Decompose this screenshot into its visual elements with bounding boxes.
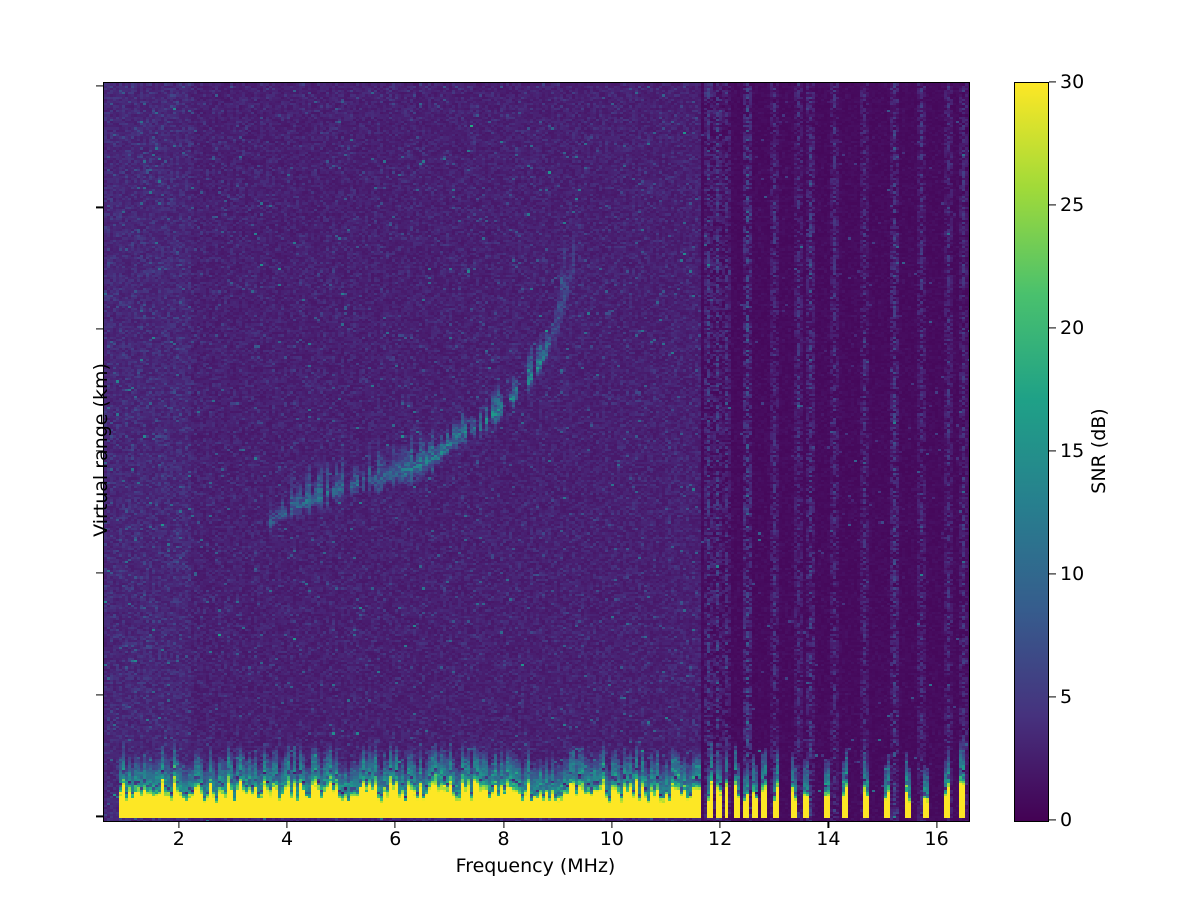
colorbar-label: SNR (dB) — [1088, 408, 1110, 493]
x-tick-label: 16 — [925, 828, 949, 850]
y-tick-mark — [96, 572, 103, 573]
y-tick-mark — [96, 85, 103, 86]
y-tick-mark — [96, 694, 103, 695]
colorbar-tick-mark — [1049, 573, 1056, 574]
x-tick-label: 8 — [498, 828, 510, 850]
x-tick-mark — [936, 821, 937, 828]
x-tick-mark — [719, 821, 720, 828]
x-tick-mark — [395, 821, 396, 828]
colorbar — [1014, 82, 1049, 822]
colorbar-tick-label: 20 — [1060, 317, 1084, 339]
colorbar-tick-label: 5 — [1060, 686, 1072, 708]
colorbar-tick-label: 10 — [1060, 563, 1084, 585]
colorbar-tick-label: 0 — [1060, 809, 1072, 831]
colorbar-tick-mark — [1049, 81, 1056, 82]
x-tick-mark — [828, 821, 829, 828]
x-tick-mark — [286, 821, 287, 828]
colorbar-tick-mark — [1049, 819, 1056, 820]
colorbar-tick-label: 25 — [1060, 194, 1084, 216]
x-tick-label: 2 — [173, 828, 185, 850]
y-tick-mark — [96, 207, 103, 208]
colorbar-tick-label: 15 — [1060, 440, 1084, 462]
y-tick-mark — [96, 816, 103, 817]
x-axis-label: Frequency (MHz) — [103, 855, 968, 877]
colorbar-tick-mark — [1049, 696, 1056, 697]
x-tick-label: 12 — [708, 828, 732, 850]
colorbar-tick-mark — [1049, 327, 1056, 328]
x-tick-label: 10 — [600, 828, 624, 850]
colorbar-tick-mark — [1049, 204, 1056, 205]
ionogram-figure: IRF Kiruna Ionosonde KI167 2025-09-22 12… — [0, 0, 1200, 900]
colorbar-tick-label: 30 — [1060, 71, 1084, 93]
x-tick-label: 14 — [816, 828, 840, 850]
x-tick-mark — [611, 821, 612, 828]
x-tick-mark — [178, 821, 179, 828]
ionogram-heatmap — [104, 83, 969, 821]
y-tick-mark — [96, 450, 103, 451]
colorbar-tick-mark — [1049, 450, 1056, 451]
x-tick-label: 4 — [281, 828, 293, 850]
y-tick-mark — [96, 329, 103, 330]
heatmap-plot-area — [103, 82, 970, 822]
x-tick-label: 6 — [389, 828, 401, 850]
colorbar-gradient — [1015, 83, 1048, 821]
x-tick-mark — [503, 821, 504, 828]
